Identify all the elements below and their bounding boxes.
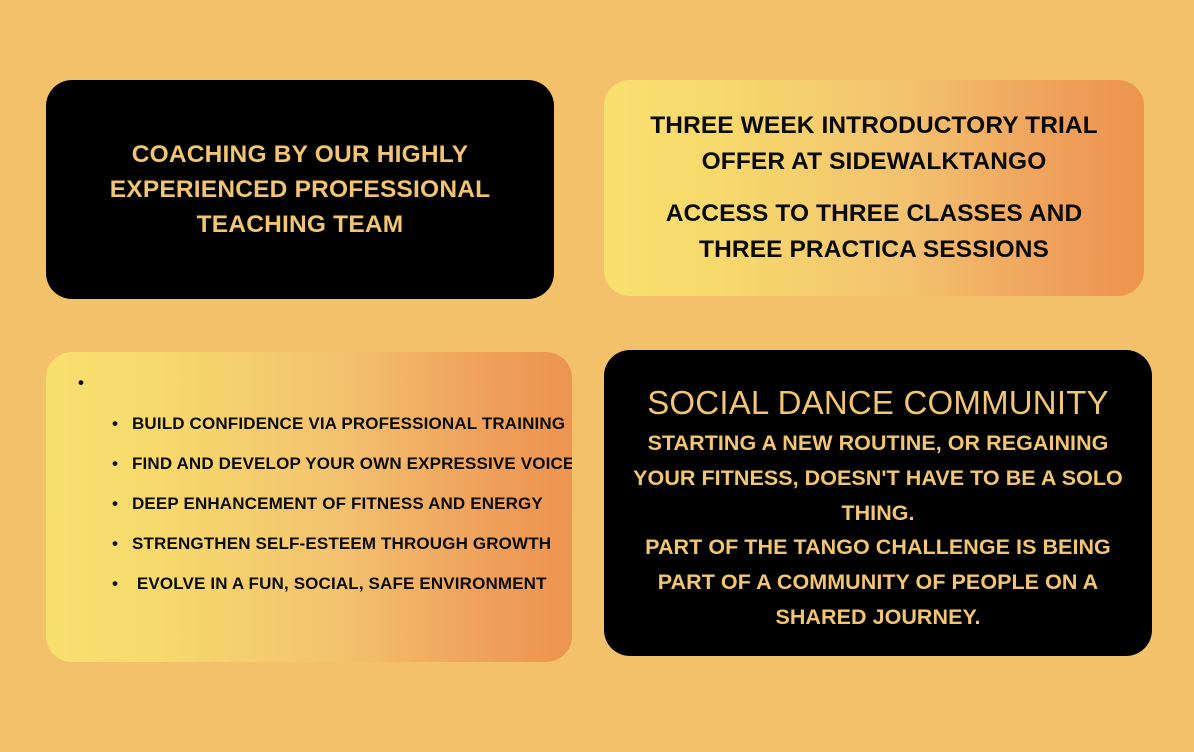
list-item: STRENGTHEN SELF-ESTEEM THROUGH GROWTH	[64, 524, 554, 564]
card-coaching: COACHING BY OUR HIGHLY EXPERIENCED PROFE…	[46, 80, 554, 299]
list-item: EVOLVE IN A FUN, SOCIAL, SAFE ENVIRONMEN…	[64, 564, 554, 604]
card-benefits: BUILD CONFIDENCE VIA PROFESSIONAL TRAINI…	[46, 352, 572, 662]
community-body: STARTING A NEW ROUTINE, OR REGAINING YOU…	[624, 426, 1132, 635]
trial-line-1: THREE WEEK INTRODUCTORY TRIAL OFFER AT S…	[650, 112, 1098, 175]
poster-canvas: COACHING BY OUR HIGHLY EXPERIENCED PROFE…	[0, 0, 1194, 752]
trial-line-2: ACCESS TO THREE CLASSES AND THREE PRACTI…	[666, 200, 1083, 263]
benefits-list: BUILD CONFIDENCE VIA PROFESSIONAL TRAINI…	[64, 374, 554, 604]
coaching-headline: COACHING BY OUR HIGHLY EXPERIENCED PROFE…	[80, 137, 520, 243]
trial-headline: THREE WEEK INTRODUCTORY TRIAL OFFER AT S…	[630, 108, 1118, 268]
list-item: BUILD CONFIDENCE VIA PROFESSIONAL TRAINI…	[64, 404, 554, 444]
card-trial-offer: THREE WEEK INTRODUCTORY TRIAL OFFER AT S…	[604, 80, 1144, 296]
card-social-dance-community: SOCIAL DANCE COMMUNITY STARTING A NEW RO…	[604, 350, 1152, 656]
list-item: FIND AND DEVELOP YOUR OWN EXPRESSIVE VOI…	[64, 444, 554, 484]
trial-line-spacer	[630, 180, 1118, 195]
list-item	[64, 374, 554, 394]
community-title: SOCIAL DANCE COMMUNITY	[647, 385, 1109, 422]
list-item: DEEP ENHANCEMENT OF FITNESS AND ENERGY	[64, 484, 554, 524]
